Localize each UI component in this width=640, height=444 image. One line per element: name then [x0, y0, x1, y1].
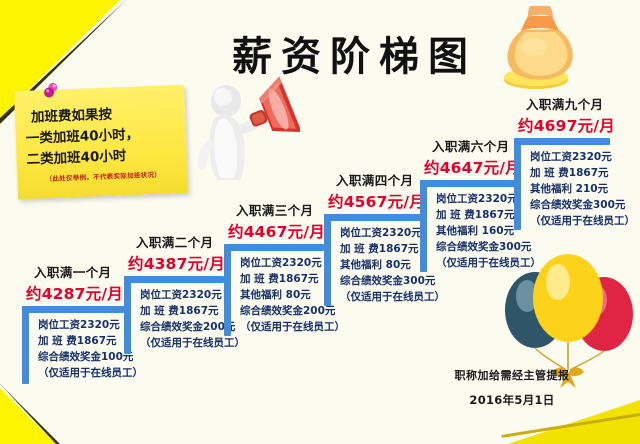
step-detail-line: （仅适用于在线员工）	[140, 336, 245, 352]
step-bracket-left	[514, 138, 521, 230]
step-details: 岗位工资2320元 加 班 费1867元 其他福利 210元 综合绩效奖金300…	[530, 145, 635, 230]
step-detail-line: 加 班 费1867元	[530, 166, 635, 182]
step-amount: 约4697元/月	[514, 114, 635, 136]
step-detail-line: （仅适用于在线员工）	[240, 320, 345, 336]
step-bracket-top	[324, 214, 424, 221]
step-bracket-top	[514, 138, 610, 145]
salary-step-month-9[interactable]: 入职满九个月 约4697元/月 岗位工资2320元 加 班 费1867元 其他福…	[514, 94, 635, 230]
note-fine-print: （此处仅举例，不代表实际加班状况）	[27, 169, 179, 185]
step-detail-line: 岗位工资2320元	[530, 150, 635, 166]
step-detail-line: （仅适用于在线员工）	[340, 290, 445, 306]
step-detail-line: 综合绩效奖金300元	[436, 240, 541, 256]
step-detail-line: 综合绩效奖金200元	[240, 304, 345, 320]
step-bracket	[224, 244, 324, 251]
step-detail-line: 其他福利 210元	[530, 182, 635, 198]
step-head: 入职满九个月 约4697元/月	[514, 94, 635, 136]
step-bracket	[420, 180, 516, 187]
footer-note: 职称加给需经主管提报	[402, 367, 622, 383]
step-bracket-left	[324, 214, 331, 306]
step-bracket-left	[124, 276, 131, 354]
step-detail-line: 综合绩效奖金300元	[340, 274, 445, 290]
step-detail-line: （仅适用于在线员工）	[38, 366, 143, 382]
step-bracket-left	[224, 244, 231, 336]
overtime-assumption-note: 加班费如果按 一类加班40小时， 二类加班40小时 （此处仅举例，不代表实际加班…	[14, 85, 188, 199]
step-title: 入职满九个月	[514, 94, 635, 113]
page-title: 薪资阶梯图	[232, 24, 477, 82]
money-bag-icon	[492, 2, 590, 94]
footer-block: 职称加给需经主管提报 2016年5月1日	[402, 367, 622, 408]
step-bracket	[324, 214, 424, 221]
step-bracket-top	[224, 244, 324, 251]
step-detail-line: 综合绩效奖金300元	[530, 198, 635, 214]
poster-canvas: 薪资阶梯图 加班费如果按 一类加班40小时， 二类加班40小时 （此处仅举例，不…	[0, 0, 640, 444]
step-bracket	[22, 306, 130, 313]
step-bracket-left	[420, 180, 427, 272]
step-detail-line: （仅适用于在线员工）	[436, 256, 541, 272]
step-bracket	[514, 138, 610, 145]
step-bracket-left	[22, 306, 29, 384]
step-bracket	[124, 276, 224, 283]
corner-decoration-bottom-left	[0, 388, 56, 444]
step-bracket-top	[124, 276, 224, 283]
step-detail-line: （仅适用于在线员工）	[530, 214, 635, 230]
step-bracket-top	[420, 180, 516, 187]
pushpin-icon	[42, 82, 61, 101]
step-bracket-top	[22, 306, 130, 313]
footer-date: 2016年5月1日	[402, 392, 622, 408]
megaphone-icon	[196, 76, 300, 184]
